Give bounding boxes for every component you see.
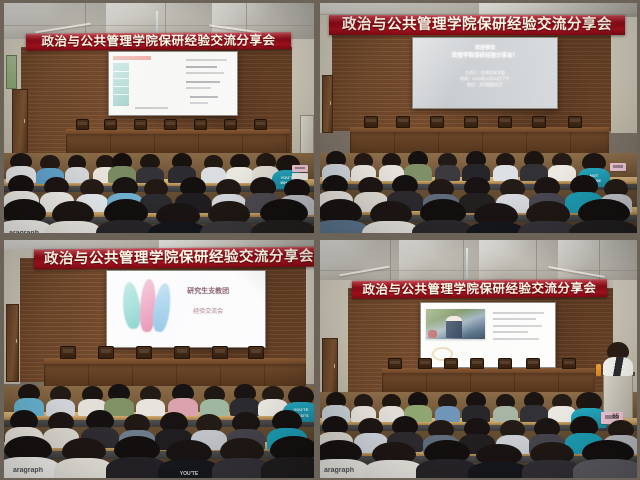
- audience-person: [320, 199, 362, 233]
- audience-person: YOU'TE: [166, 440, 212, 478]
- audience-person: [62, 438, 106, 478]
- audience-person: [526, 201, 570, 233]
- audience-person: [204, 386, 225, 416]
- stage-chair: [136, 346, 152, 359]
- slide-white-title: 研究生支教团 经验交流会: [107, 271, 265, 347]
- stage-chair: [498, 358, 512, 369]
- event-banner: 政治与公共管理学院保研经验交流分享会: [34, 246, 314, 269]
- event-banner-text: 政治与公共管理学院保研经验交流分享会: [342, 18, 612, 33]
- projection-screen: 研究生支教团 经验交流会: [106, 270, 266, 348]
- jacket-logo-text: YOU'TE: [171, 471, 208, 477]
- audience-person: [140, 386, 161, 416]
- side-door[interactable]: [12, 89, 28, 155]
- audience-person-with-logo-shirt: aragraph: [4, 436, 52, 478]
- projection-screen: 欢迎参加 政管学院保研经验分享会！ 主讲人：优秀学长学姐 时间：2024年10月…: [412, 37, 558, 109]
- photo-frame-bottom-right: 政治与公共管理学院保研经验交流分享会: [320, 240, 637, 478]
- side-door[interactable]: [6, 304, 19, 382]
- stage-chair: [212, 346, 228, 359]
- stage-chair: [464, 116, 478, 128]
- desk-paper-pink: [292, 165, 308, 172]
- slide-dark-title: 欢迎参加 政管学院保研经验分享会！ 主讲人：优秀学长学姐 时间：2024年10月…: [413, 38, 557, 108]
- notice-board: [6, 55, 17, 89]
- photo-collage: 政治与公共管理学院保研经验交流分享会: [0, 0, 640, 480]
- stage-chair: [470, 358, 484, 369]
- stage-chair: [568, 116, 582, 128]
- event-banner: 政治与公共管理学院保研经验交流分享会: [329, 15, 625, 35]
- ceiling-pipe-icon: [466, 248, 468, 278]
- stage-chair: [364, 116, 378, 128]
- audience-person: [260, 199, 308, 233]
- speaker-at-podium: [607, 342, 629, 376]
- stage-chair: [164, 119, 177, 130]
- audience-person: [220, 438, 264, 478]
- stage-chair: [498, 116, 512, 128]
- stage-chair: [526, 358, 540, 369]
- stage-chair: [532, 116, 546, 128]
- collage-panel-bottom-right: 政治与公共管理学院保研经验交流分享会: [317, 236, 640, 480]
- audience-person: [370, 201, 412, 233]
- stage-chair: [194, 119, 207, 130]
- event-banner-text: 政治与公共管理学院保研经验交流分享会: [41, 35, 275, 49]
- event-banner: 政治与公共管理学院保研经验交流分享会: [26, 32, 291, 50]
- slide-title-line1: 欢迎参加: [413, 45, 557, 52]
- stage-chair: [562, 358, 576, 369]
- audience-person: [476, 444, 522, 478]
- shirt-logo-text: aragraph: [9, 467, 47, 474]
- stage-chair: [60, 346, 76, 359]
- slide-doc-header: [113, 56, 151, 60]
- right-wall-panel: [306, 250, 314, 384]
- slide-sub-line1: 主讲人：优秀学长学姐: [413, 70, 557, 76]
- audience-person: [114, 436, 160, 478]
- audience-person: [496, 153, 515, 181]
- audience-person: [52, 201, 94, 233]
- shirt-logo-text: aragraph: [321, 467, 358, 474]
- stage-chair: [174, 346, 190, 359]
- slide-title-line1: 研究生支教团: [164, 286, 252, 296]
- stage-chair: [430, 116, 444, 128]
- stage-chair: [444, 358, 458, 369]
- slide-document: [109, 52, 237, 115]
- stage-chair: [98, 346, 114, 359]
- stage-chair: [388, 358, 402, 369]
- ceiling: [320, 240, 637, 282]
- audience-person: [438, 394, 457, 422]
- photo-frame-bottom-left: 政治与公共管理学院保研经验交流分享会 研究生支教团 经验交流会: [4, 240, 314, 478]
- slide-sub-line3: 地点：文科楼报告厅: [413, 82, 557, 88]
- slide-photograph: [426, 309, 485, 340]
- audience-person: [372, 442, 416, 478]
- audience-person: [530, 442, 574, 478]
- slide-title-line2: 政管学院保研经验分享会！: [413, 53, 557, 61]
- audience-person-with-logo-shirt: aragraph: [320, 440, 362, 478]
- stage-chair: [224, 119, 237, 130]
- audience-person-with-logo-shirt: aragraph: [4, 199, 46, 233]
- audience-person: [438, 153, 457, 181]
- photo-frame-top-left: 政治与公共管理学院保研经验交流分享会: [4, 3, 314, 233]
- stage-chair: [418, 358, 432, 369]
- stage-chair: [104, 119, 117, 130]
- projection-screen: [108, 51, 238, 116]
- photo-frame-top-right: 政治与公共管理学院保研经验交流分享会 欢迎参加 政管学院保研经验分享会！ 主讲人…: [320, 3, 637, 233]
- stage-chair: [248, 346, 264, 359]
- collage-panel-top-right: 政治与公共管理学院保研经验交流分享会 欢迎参加 政管学院保研经验分享会！ 主讲人…: [317, 0, 640, 236]
- audience-person: [582, 440, 634, 478]
- collage-panel-bottom-left: 政治与公共管理学院保研经验交流分享会 研究生支教团 经验交流会: [0, 236, 317, 480]
- slide-sub-line2: 时间：2024年10月20日下午: [413, 76, 557, 82]
- slide-photo-figure: [446, 316, 461, 339]
- audience-person: [578, 199, 630, 233]
- audience-person: [270, 436, 314, 478]
- water-bottle: [596, 364, 601, 376]
- stage-chair: [134, 119, 147, 130]
- audience-person: [208, 201, 250, 233]
- audience-person: [496, 394, 515, 422]
- slide-doc-teal-column: [113, 63, 130, 106]
- slide-title-line2: 经验交流会: [167, 306, 249, 315]
- audience-person: [424, 440, 470, 478]
- audience-person: YOU'TE: [156, 203, 200, 233]
- event-banner-text: 政治与公共管理学院保研经验交流分享会: [362, 282, 596, 296]
- side-door[interactable]: [322, 75, 333, 133]
- audience-person: NOT: [474, 203, 518, 233]
- stage-chair: [396, 116, 410, 128]
- desk-paper-pink: [610, 163, 626, 171]
- stage-chair: [76, 119, 89, 130]
- audience-person: [104, 199, 148, 233]
- audience-person: [420, 199, 466, 233]
- shirt-logo-text: aragraph: [6, 230, 41, 233]
- stage-chair: [254, 119, 267, 130]
- slide-photo-accent: [428, 330, 437, 338]
- collage-panel-top-left: 政治与公共管理学院保研经验交流分享会: [0, 0, 317, 236]
- event-banner: 政治与公共管理学院保研经验交流分享会: [352, 279, 607, 299]
- side-door[interactable]: [322, 338, 338, 396]
- event-banner-text: 政治与公共管理学院保研经验交流分享会: [44, 249, 314, 266]
